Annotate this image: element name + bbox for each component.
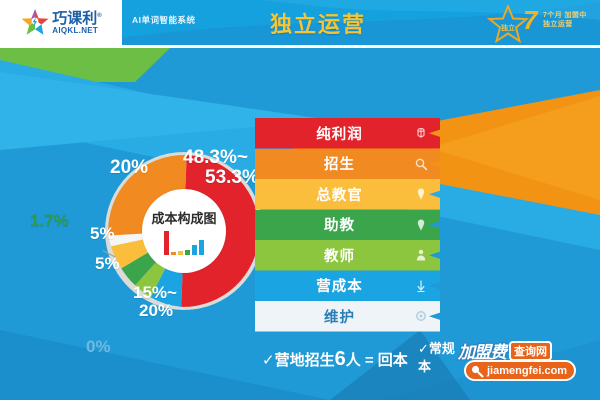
svg-text:独立: 独立: [500, 23, 515, 32]
gear-icon: [414, 309, 428, 323]
pin-icon: [414, 187, 428, 201]
legend-item-chief-instructor[interactable]: 总教官: [255, 179, 440, 210]
badge-line-1: 7个月 加盟中: [543, 12, 587, 21]
bar-chart-icon: [164, 229, 204, 255]
badge-caption: 7个月 加盟中 独立运营: [543, 12, 587, 30]
star-person-logo-icon: [20, 8, 50, 38]
badge-line-2: 独立运营: [543, 21, 587, 30]
pie-label-chief-instructor: 5%: [90, 225, 115, 243]
legend-label: 维护: [255, 306, 440, 327]
logo-chinese-name: 巧课利®: [52, 11, 101, 26]
person-icon: [414, 248, 428, 262]
legend-item-maintenance[interactable]: 维护: [255, 301, 440, 332]
payback-note-number: 6: [335, 348, 346, 370]
pie-label-operating-cost: 15%~ 20%: [133, 284, 177, 320]
search-icon: [414, 157, 428, 171]
page-header: 巧课利® AIQKL.NET AI单词智能系统 独立运营 独立 7 7个月 加盟…: [0, 0, 600, 45]
page-title: 独立运营: [270, 7, 366, 39]
pie-label-maintenance: 0%: [86, 338, 111, 356]
legend-label: 纯利润: [255, 123, 440, 144]
legend-label: 招生: [255, 153, 440, 174]
pie-label-assistant: 5%: [95, 255, 120, 273]
header-divider: [0, 45, 600, 48]
legend-label: 教师: [255, 245, 440, 266]
logo-domain: AIQKL.NET: [52, 27, 101, 35]
legend-label: 助教: [255, 214, 440, 235]
legend-label: 总教官: [255, 184, 440, 205]
header-subtitle: AI单词智能系统: [132, 14, 196, 26]
anniversary-badge: 独立 7 7个月 加盟中 独立运营: [487, 5, 595, 43]
watermark-url: jiamengfei.com: [487, 365, 567, 377]
slide-canvas: 巧课利® AIQKL.NET AI单词智能系统 独立运营 独立 7 7个月 加盟…: [0, 0, 600, 400]
pie-label-profit: 48.3%~ 53.3%: [183, 148, 259, 188]
pie-label-enrollment: 20%: [110, 158, 148, 178]
legend-item-profit[interactable]: 纯利润: [255, 118, 440, 149]
site-watermark: 加盟费 查询网 jiamengfei.com: [458, 338, 598, 394]
chart-title: 成本构成图: [151, 208, 216, 227]
pin-icon: [414, 218, 428, 232]
legend: 纯利润 招生 总教官 助教: [255, 118, 440, 332]
payback-note: ✓营地招生6人 = 回本: [262, 348, 408, 371]
legend-item-enrollment[interactable]: 招生: [255, 149, 440, 180]
coin-icon: [414, 126, 428, 140]
regular-note-line-2: 本: [418, 359, 431, 374]
regular-note-line-1: ✓常规: [418, 341, 455, 356]
legend-item-operating-cost[interactable]: 营成本: [255, 271, 440, 302]
donut-center-hub: 成本构成图: [142, 189, 226, 273]
legend-label: 营成本: [255, 275, 440, 296]
download-icon: [414, 279, 428, 293]
magnifier-icon: [469, 363, 484, 378]
legend-item-assistant[interactable]: 助教: [255, 210, 440, 241]
payback-note-suffix: 人 = 回本: [346, 352, 408, 369]
payback-note-prefix: ✓营地招生: [262, 352, 335, 369]
legend-item-teacher[interactable]: 教师: [255, 240, 440, 271]
pie-label-teacher: 1.7%: [30, 212, 69, 230]
brand-logo[interactable]: 巧课利® AIQKL.NET: [0, 0, 122, 45]
watermark-chip: 查询网: [509, 341, 552, 361]
badge-number: 7: [523, 7, 537, 33]
